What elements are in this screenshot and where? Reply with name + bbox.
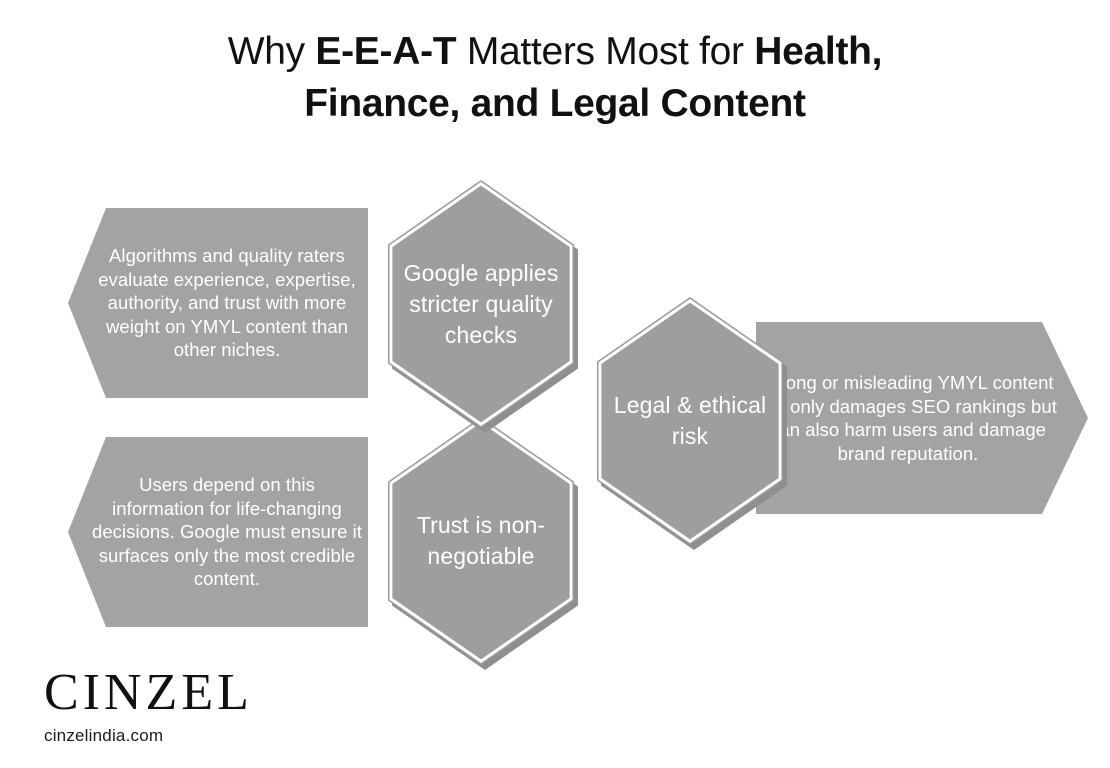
title-line-1: Why E-E-A-T Matters Most for Health, (228, 30, 882, 73)
banner-text: Wrong or misleading YMYL content not onl… (742, 371, 1074, 465)
hexagon-label: Google applies stricter quality checks (388, 180, 574, 428)
logo-url: cinzelindia.com (44, 726, 253, 746)
banner-algorithms-quality-raters: Algorithms and quality raters evaluate e… (68, 208, 368, 398)
hexagon-label: Trust is non-negotiable (388, 417, 574, 665)
hexagon-legal-ethical-risk: Legal & ethical risk (597, 297, 783, 545)
logo-wordmark: CINZEL (44, 666, 253, 720)
banner-users-depend-information: Users depend on this information for lif… (68, 437, 368, 627)
banner-wrong-misleading-ymyl: Wrong or misleading YMYL content not onl… (756, 322, 1088, 514)
hexagon-label: Legal & ethical risk (597, 297, 783, 545)
hexagon-trust-non-negotiable: Trust is non-negotiable (388, 417, 574, 665)
infographic-canvas: Why E-E-A-T Matters Most for Health, Fin… (0, 0, 1110, 768)
banner-text: Algorithms and quality raters evaluate e… (77, 244, 377, 362)
brand-logo: CINZEL cinzelindia.com (44, 666, 253, 746)
title-line-2: Finance, and Legal Content (304, 82, 805, 125)
page-title: Why E-E-A-T Matters Most for Health, Fin… (160, 26, 950, 130)
hexagon-google-stricter-quality-checks: Google applies stricter quality checks (388, 180, 574, 428)
banner-text: Users depend on this information for lif… (77, 473, 377, 591)
title-text-pre: Why (228, 30, 316, 73)
title-emphasis-eeat: E-E-A-T (315, 30, 456, 73)
title-emphasis-health: Health, (754, 30, 882, 73)
title-text-mid: Matters Most for (456, 30, 754, 73)
